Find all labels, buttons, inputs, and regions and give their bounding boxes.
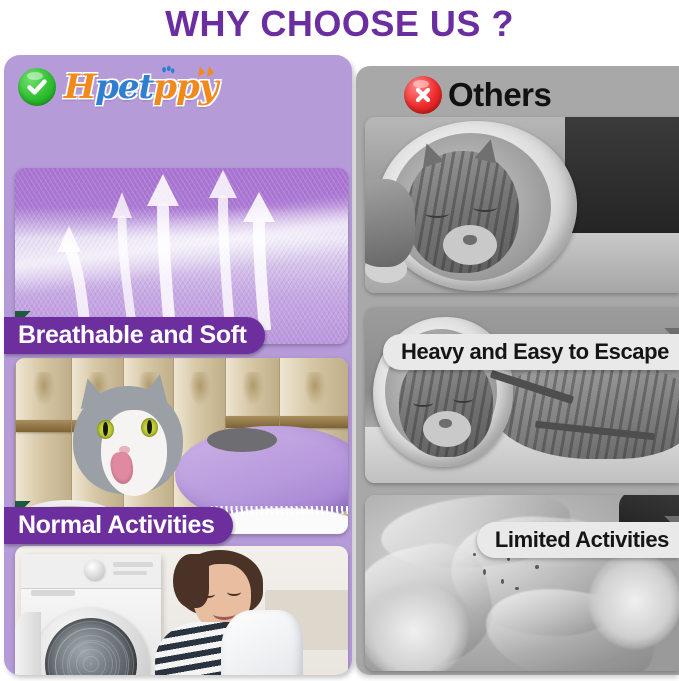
- dirt-spot: [501, 579, 504, 584]
- caption-limited-activities: Limited Activities: [477, 522, 679, 558]
- others-panel: Others Heavy and Easy to Escape: [356, 66, 679, 675]
- cat-eye-closed: [413, 399, 433, 407]
- badge-gloss: [27, 72, 43, 80]
- curtain-motif: [304, 372, 326, 406]
- tabby-stripes: [493, 363, 679, 459]
- cat-pupil: [103, 422, 108, 436]
- washer-open-door: [15, 612, 41, 675]
- woman-eye: [227, 588, 241, 596]
- cat-nose: [439, 419, 452, 428]
- fur-fluff: [589, 553, 679, 649]
- paw-print-icon: [160, 65, 176, 79]
- dirt-spot: [515, 587, 519, 590]
- brand-logo: Hpetppy: [64, 67, 218, 107]
- cat-eye: [97, 420, 114, 439]
- card-easy-to-clean: [15, 546, 348, 675]
- woman-with-laundry-photo: [15, 546, 348, 675]
- caption-heavy-and-easy-to-escape: Heavy and Easy to Escape: [383, 334, 679, 370]
- cat-nose: [463, 235, 477, 245]
- brand-logo-part2: pet: [95, 67, 153, 107]
- card-heavy-and-easy-to-escape: [365, 117, 679, 293]
- brand-header: Hpetppy: [18, 61, 340, 113]
- washer-knob[interactable]: [85, 560, 105, 580]
- cat-wearing-cone-sleeping-photo: [365, 117, 679, 293]
- others-label: Others: [448, 76, 551, 114]
- cat-ears-icon: [196, 64, 216, 78]
- others-header: Others: [404, 69, 551, 121]
- woman-hair-side: [173, 554, 209, 608]
- woman-eye: [201, 590, 215, 598]
- dirt-spot: [483, 569, 486, 575]
- clean-towel: [221, 610, 303, 675]
- caption-breathable-and-soft: Breathable and Soft: [4, 317, 265, 354]
- cat-eye: [141, 418, 158, 437]
- washer-display: [113, 562, 153, 567]
- red-cross-circle-icon: [404, 76, 442, 114]
- curtain-motif: [33, 372, 55, 406]
- dirt-spot: [535, 565, 539, 569]
- ours-panel: Hpetppy: [4, 55, 352, 675]
- cat-muzzle: [443, 225, 497, 265]
- cat-body: [493, 363, 679, 459]
- curtain-band: [16, 420, 72, 432]
- brand-logo-part1: H: [64, 67, 95, 107]
- badge-gloss: [413, 80, 429, 88]
- cat-back-fur: [207, 428, 277, 452]
- fur-tufts: [211, 506, 348, 514]
- curtain-motif: [189, 372, 211, 406]
- drum-holes: [45, 618, 137, 675]
- curtain-motif: [242, 372, 264, 406]
- cat-chin: [133, 462, 149, 476]
- cat-eye-closed: [425, 209, 449, 218]
- washer-glass: [45, 618, 137, 675]
- green-check-circle-icon: [18, 68, 56, 106]
- airflow-arrow-icon: [55, 218, 101, 328]
- cat-body: [365, 179, 415, 267]
- washer-drawer[interactable]: [31, 590, 75, 596]
- cat-eye-closed: [453, 395, 473, 403]
- dirt-spot: [473, 553, 476, 556]
- cat-pupil: [147, 420, 152, 434]
- cat-eye-closed: [473, 203, 497, 212]
- airflow-arrow-icon: [143, 170, 191, 320]
- washer-display: [113, 571, 147, 575]
- dark-furniture: [565, 117, 679, 245]
- page-title: WHY CHOOSE US ?: [0, 2, 679, 46]
- cat-muzzle: [423, 411, 471, 447]
- airflow-arrow-icon: [237, 190, 285, 330]
- caption-normal-activities: Normal Activities: [4, 507, 233, 544]
